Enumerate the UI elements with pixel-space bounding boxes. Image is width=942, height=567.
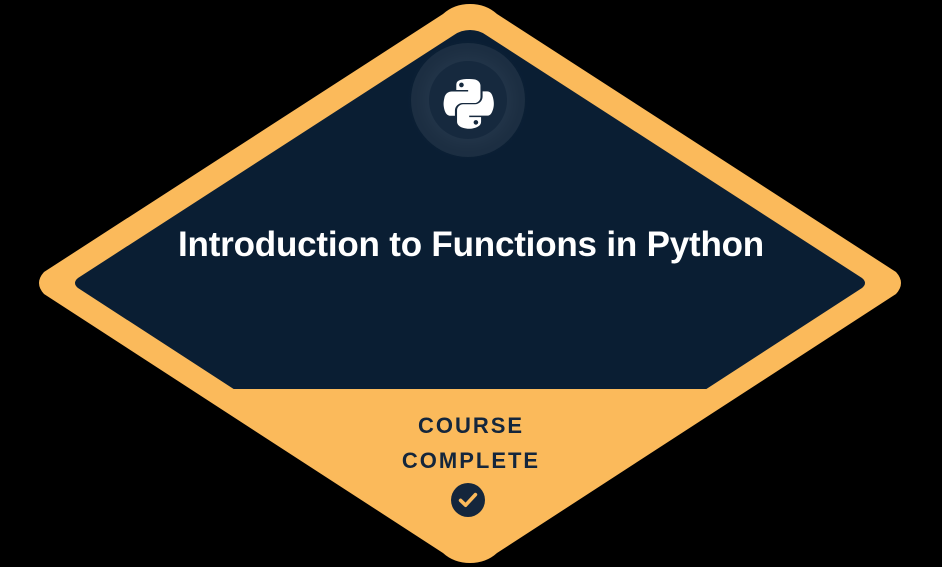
status-badge: COURSE COMPLETE bbox=[231, 408, 711, 478]
check-circle-icon bbox=[450, 482, 486, 518]
status-block: COURSE COMPLETE bbox=[231, 408, 711, 478]
python-logo-icon bbox=[411, 43, 525, 157]
certificate-badge: Introduction to Functions in Python COUR… bbox=[0, 0, 942, 567]
course-title: Introduction to Functions in Python bbox=[131, 222, 811, 268]
